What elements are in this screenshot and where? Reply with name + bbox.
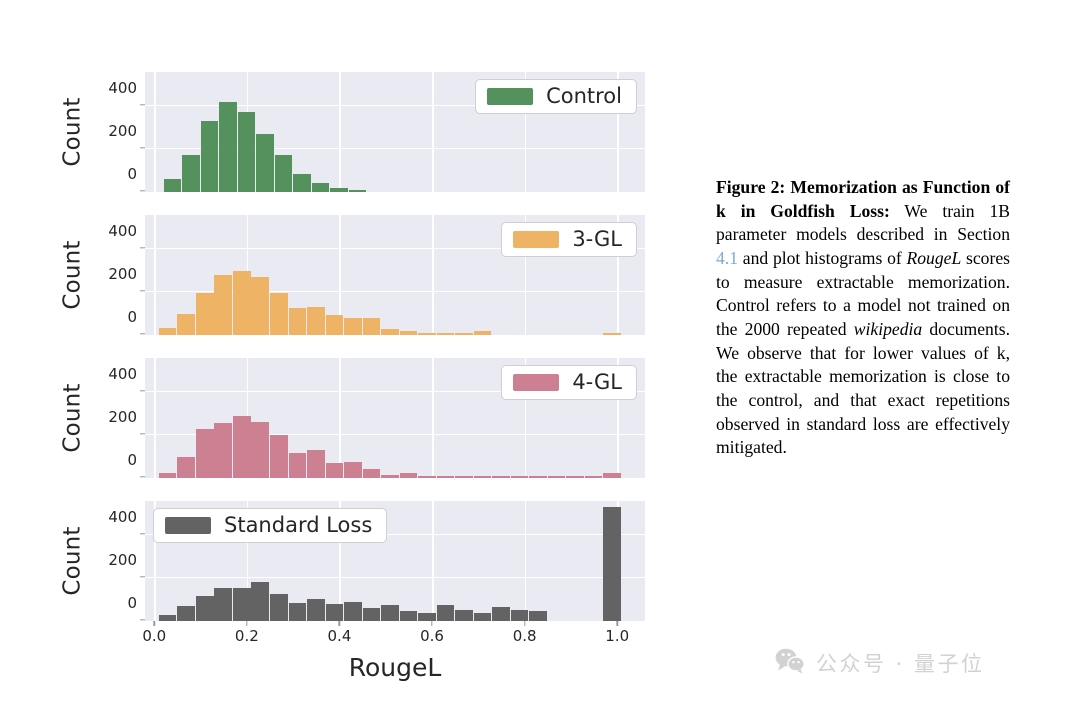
histogram-bar <box>196 429 214 478</box>
legend-label: 3-GL <box>572 229 622 250</box>
y-axis-tick-label: 400 <box>108 508 137 526</box>
histogram-bar <box>381 329 399 335</box>
histogram-bar <box>196 596 214 621</box>
histogram-bar <box>214 423 232 478</box>
histogram-bar <box>214 275 232 335</box>
histogram-bar <box>455 476 473 478</box>
histogram-bar <box>437 605 455 621</box>
histogram-bar <box>238 112 256 192</box>
histogram-bar <box>492 607 510 621</box>
y-axis-tick-label: 0 <box>127 594 137 612</box>
histogram-bar <box>289 453 307 478</box>
histogram-bar <box>344 462 362 478</box>
y-axis-tick-mark <box>140 619 145 620</box>
histogram-bar <box>529 611 547 621</box>
histogram-bar <box>293 174 311 192</box>
y-axis-tick-mark <box>140 533 145 534</box>
histogram-bar <box>289 308 307 335</box>
y-axis-label-text: Count <box>60 240 86 309</box>
y-axis-tick-mark <box>140 147 145 148</box>
histogram-bar <box>275 155 293 192</box>
histogram-bar <box>548 476 566 478</box>
histogram-bar <box>177 606 195 621</box>
figure-caption: Figure 2: Memorization as Function of k … <box>716 176 1010 460</box>
histogram-bar <box>307 450 325 478</box>
histogram-bar <box>326 315 344 335</box>
y-axis-label: Count <box>58 358 88 478</box>
wechat-icon <box>775 648 805 678</box>
histogram-bar <box>307 307 325 335</box>
histogram-bar <box>233 588 251 621</box>
histogram-bar <box>603 473 621 478</box>
histogram-bar <box>330 188 348 192</box>
x-axis-tick-label: 1.0 <box>605 627 629 645</box>
legend-3-gl: 3-GL <box>501 222 637 257</box>
histogram-bar <box>159 615 177 621</box>
y-axis-tick-mark <box>140 576 145 577</box>
x-axis-label: RougeL <box>145 653 645 682</box>
histogram-bar <box>256 134 274 192</box>
legend-control: Control <box>475 79 637 114</box>
histogram-bar <box>326 463 344 478</box>
histogram-figure: Count0200400ControlCount02004003-GLCount… <box>60 58 680 678</box>
histogram-bar <box>455 333 473 335</box>
x-axis-tick-mark <box>246 621 247 626</box>
y-axis-tick-label: 0 <box>127 165 137 183</box>
y-axis-tick-mark <box>140 247 145 248</box>
histogram-bar <box>251 422 269 478</box>
watermark: 公众号 · 量子位 <box>775 648 985 678</box>
histogram-bar <box>270 435 288 478</box>
histogram-bar <box>400 331 418 335</box>
histogram-panel-standard-loss: 0200400Standard Loss <box>145 501 645 621</box>
legend-standard-loss: Standard Loss <box>153 508 387 543</box>
histogram-bar <box>363 608 381 621</box>
y-axis-tick-mark <box>140 476 145 477</box>
x-axis-tick-label: 0.4 <box>328 627 352 645</box>
watermark-text: 公众号 · 量子位 <box>816 648 985 678</box>
y-axis-tick-label: 400 <box>108 365 137 383</box>
histogram-bar <box>159 328 177 335</box>
y-axis-tick-mark <box>140 390 145 391</box>
x-axis-tick-label: 0.2 <box>235 627 259 645</box>
histogram-bar <box>603 507 621 621</box>
histogram-bar <box>437 333 455 335</box>
histogram-bar <box>418 613 436 621</box>
histogram-bar <box>251 582 269 621</box>
x-axis-tick-mark <box>617 621 618 626</box>
histogram-bar <box>219 102 237 192</box>
legend-swatch <box>165 517 211 534</box>
x-axis-tick-label: 0.8 <box>513 627 537 645</box>
figure-page: Count0200400ControlCount02004003-GLCount… <box>0 0 1080 723</box>
y-axis-tick-mark <box>140 190 145 191</box>
histogram-bar <box>381 475 399 478</box>
legend-swatch <box>513 374 559 391</box>
histogram-bar <box>177 314 195 335</box>
histogram-bar <box>418 476 436 478</box>
histogram-bar <box>381 605 399 621</box>
y-axis-tick-mark <box>140 433 145 434</box>
x-axis-tick-mark <box>339 621 340 626</box>
y-axis-label-text: Count <box>60 97 86 166</box>
x-axis-tick-label: 0.6 <box>420 627 444 645</box>
histogram-bar <box>363 318 381 335</box>
histogram-bar <box>344 602 362 621</box>
histogram-bar <box>159 473 177 478</box>
histogram-bar <box>566 476 584 478</box>
histogram-bar <box>289 603 307 621</box>
y-axis-label-text: Count <box>60 383 86 452</box>
histogram-bar <box>400 611 418 621</box>
histogram-bar <box>474 331 492 335</box>
histogram-bar <box>233 416 251 478</box>
legend-swatch <box>513 231 559 248</box>
histogram-bar <box>270 594 288 621</box>
y-axis-label: Count <box>58 72 88 192</box>
histogram-bar <box>326 604 344 621</box>
y-axis-tick-label: 200 <box>108 551 137 569</box>
histogram-bar <box>251 277 269 335</box>
histogram-bar <box>455 610 473 621</box>
histogram-bar <box>177 457 195 478</box>
caption-section-xref: 4.1 <box>716 248 738 268</box>
histogram-bar <box>270 293 288 335</box>
y-axis-tick-label: 0 <box>127 451 137 469</box>
histogram-bar <box>363 469 381 478</box>
histogram-bar <box>182 155 200 192</box>
histogram-panel-4-gl: 02004004-GL <box>145 358 645 478</box>
histogram-bar <box>529 476 547 478</box>
histogram-bar <box>196 293 214 335</box>
caption-title: Figure 2: Memorization as Function of k … <box>716 177 1010 221</box>
y-axis-tick-label: 200 <box>108 408 137 426</box>
y-axis-tick-mark <box>140 104 145 105</box>
histogram-bar <box>585 476 603 478</box>
histogram-panel-3-gl: 02004003-GL <box>145 215 645 335</box>
histogram-bar <box>400 473 418 478</box>
histogram-bar <box>511 476 529 478</box>
histogram-bar <box>214 588 232 621</box>
legend-swatch <box>487 88 533 105</box>
legend-label: Standard Loss <box>224 515 372 536</box>
histogram-bar <box>603 333 621 335</box>
histogram-bar <box>418 333 436 335</box>
y-axis-label: Count <box>58 501 88 621</box>
y-axis-tick-mark <box>140 290 145 291</box>
y-axis-tick-label: 0 <box>127 308 137 326</box>
histogram-bar <box>164 179 182 192</box>
y-axis-tick-label: 200 <box>108 122 137 140</box>
x-axis-tick-label: 0.0 <box>142 627 166 645</box>
histogram-bar <box>307 599 325 621</box>
histogram-bar <box>474 476 492 478</box>
y-axis-tick-mark <box>140 333 145 334</box>
legend-4-gl: 4-GL <box>501 365 637 400</box>
caption-italic-wikipedia: wikipedia <box>854 319 922 339</box>
y-axis-label: Count <box>58 215 88 335</box>
histogram-bar <box>233 271 251 335</box>
histogram-bar <box>201 121 219 192</box>
histogram-bar <box>437 476 455 478</box>
legend-label: Control <box>546 86 622 107</box>
y-axis-tick-label: 200 <box>108 265 137 283</box>
y-axis-tick-label: 400 <box>108 79 137 97</box>
y-axis-label-text: Count <box>60 526 86 595</box>
x-axis-tick-mark <box>431 621 432 626</box>
histogram-bar <box>312 183 330 192</box>
caption-italic-rougel: RougeL <box>907 248 962 268</box>
histogram-panel-control: 0200400Control <box>145 72 645 192</box>
histogram-bar <box>344 318 362 335</box>
y-axis-tick-label: 400 <box>108 222 137 240</box>
histogram-bar <box>349 190 367 192</box>
histogram-bar <box>511 610 529 621</box>
x-axis-tick-mark <box>154 621 155 626</box>
histogram-bar <box>492 476 510 478</box>
legend-label: 4-GL <box>572 372 622 393</box>
histogram-bar <box>474 613 492 621</box>
x-axis-tick-mark <box>524 621 525 626</box>
